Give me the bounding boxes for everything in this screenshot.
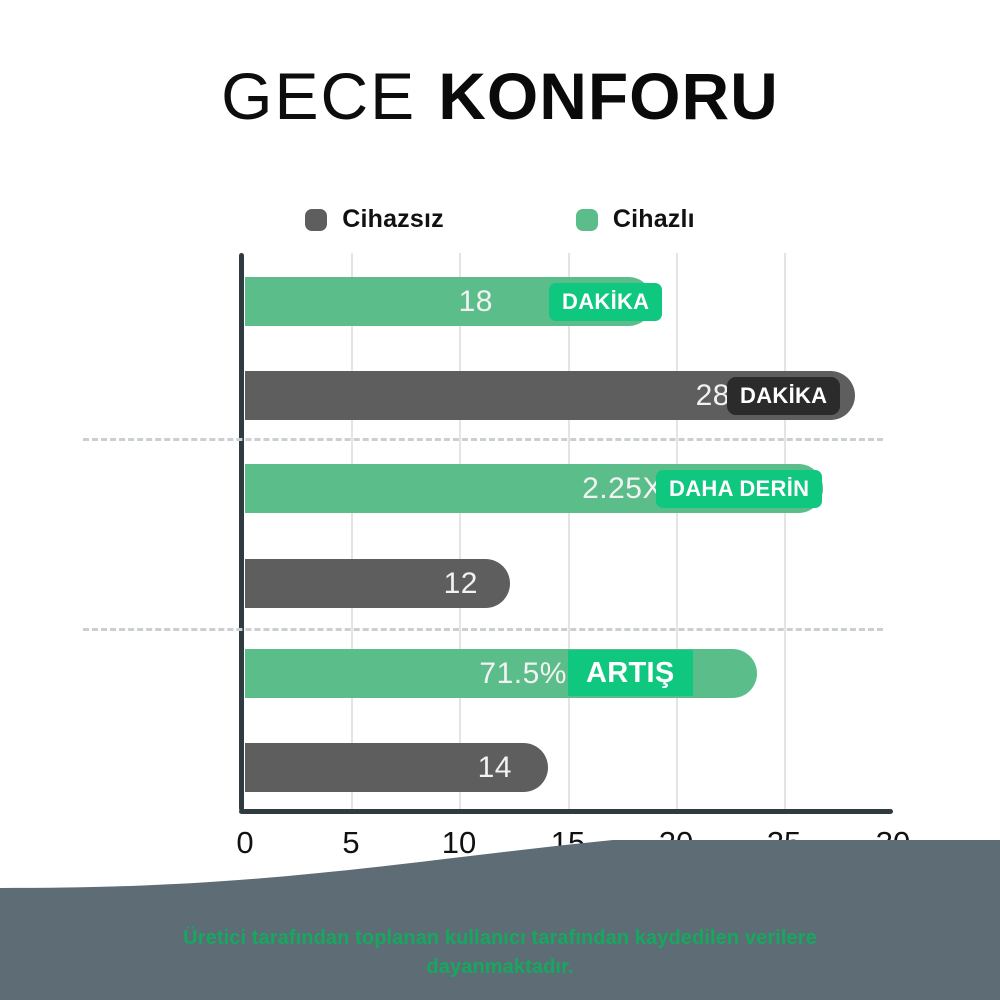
title-light-part: GECE: [221, 59, 416, 133]
badge-dakika-cihazsiz: DAKİKA: [727, 377, 840, 415]
title-bold-part: KONFORU: [438, 59, 779, 133]
legend-item-cihazli: Cihazlı: [576, 205, 695, 234]
bar-value-label: 18: [459, 285, 493, 319]
badge-text: ARTIŞ: [586, 657, 675, 690]
footer-disclaimer-text: Üretici tarafından toplanan kullanıcı ta…: [0, 924, 1000, 982]
bar-chart: Uykuya Dalma Süresi 18 DAKİKA 28 DAKİKA …: [243, 253, 893, 811]
badge-text: DAKİKA: [740, 383, 827, 409]
legend-swatch-icon-cihazli: [576, 209, 598, 231]
badge-daha-derin: DAHA DERİN: [656, 470, 822, 508]
bar-value-label: 28: [696, 379, 730, 413]
gridline-15: [568, 253, 570, 809]
bar-value-label: 2.25X: [582, 472, 663, 506]
footer-wave-banner: Üretici tarafından toplanan kullanıcı ta…: [0, 840, 1000, 1000]
legend-item-cihazsiz: Cihazsız: [305, 205, 444, 234]
infographic-root: GECEKONFORU Cihazsız Cihazlı Uykuya Dalm…: [0, 0, 1000, 1000]
legend-swatch-icon-cihazsiz: [305, 209, 327, 231]
badge-artis: ARTIŞ: [568, 650, 693, 696]
legend-label-cihazli: Cihazlı: [613, 205, 695, 234]
gridline-10: [459, 253, 461, 809]
chart-legend: Cihazsız Cihazlı: [0, 205, 1000, 234]
x-axis-spine: [239, 809, 893, 814]
bar-cihazsiz-enerji: 14: [245, 743, 548, 792]
bar-value-label: 12: [444, 567, 478, 601]
bar-cihazsiz-uyku-puani: 12: [245, 559, 510, 608]
badge-dakika-cihazli: DAKİKA: [549, 283, 662, 321]
gridline-20: [676, 253, 678, 809]
y-axis-spine: [239, 253, 244, 811]
badge-text: DAKİKA: [562, 289, 649, 315]
page-title: GECEKONFORU: [0, 58, 1000, 134]
legend-label-cihazsiz: Cihazsız: [342, 205, 444, 234]
group-separator-1: [83, 438, 883, 441]
badge-text: DAHA DERİN: [669, 476, 809, 502]
bar-value-label: 71.5%: [479, 657, 567, 691]
bar-value-label: 14: [478, 751, 512, 785]
group-separator-2: [83, 628, 883, 631]
gridline-5: [351, 253, 353, 809]
gridline-25: [784, 253, 786, 809]
